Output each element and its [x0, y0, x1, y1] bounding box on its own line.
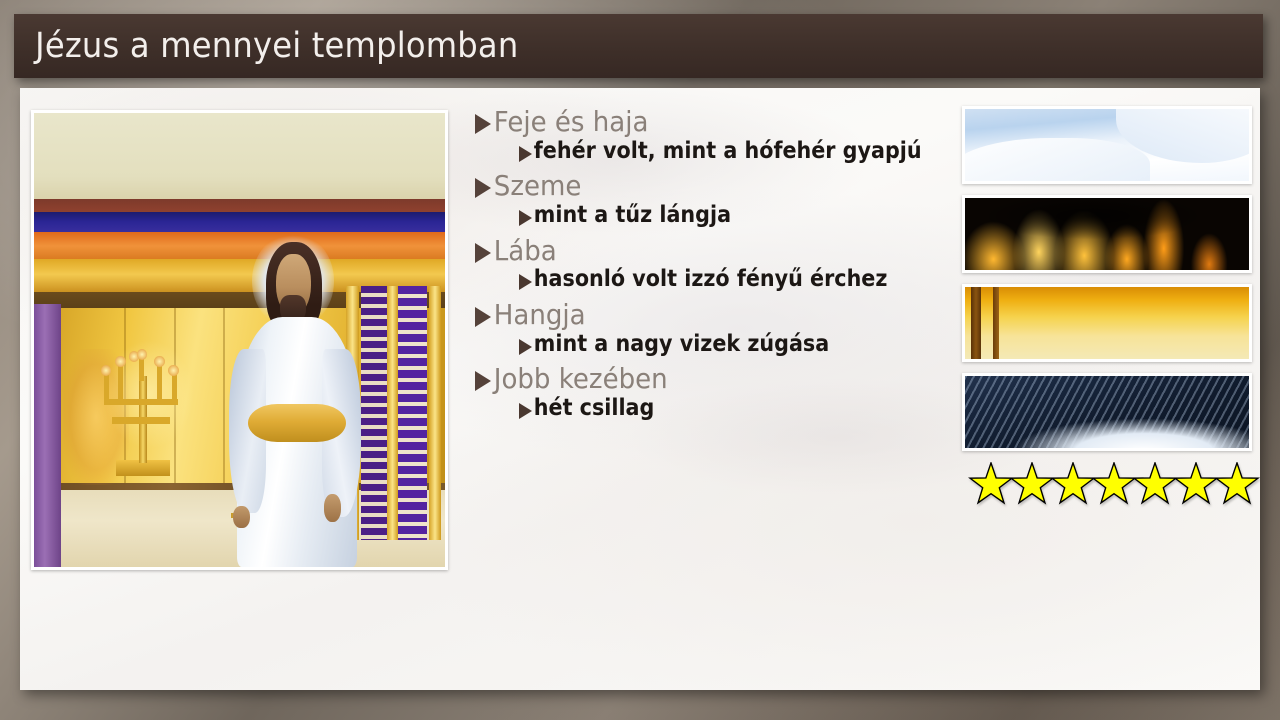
bullet-item-level2: hasonló volt izzó fényű érchez	[519, 265, 955, 294]
slide-content-panel: Feje és haja fehér volt, mint a hófehér …	[20, 88, 1260, 690]
page-title: Jézus a mennyei templomban	[14, 26, 518, 66]
wall-seam	[223, 308, 225, 490]
glowing-bronze-strip-image	[962, 284, 1252, 362]
menorah-arm	[104, 399, 178, 405]
menorah-branch	[139, 358, 144, 381]
menorah-arm	[112, 417, 170, 423]
triangle-bullet-icon	[475, 307, 491, 327]
jesus-hand-right	[324, 494, 341, 521]
menorah-base	[116, 460, 169, 476]
rushing-water-photo	[965, 376, 1249, 448]
jesus-hand-left	[233, 506, 249, 529]
seven-stars-group	[968, 462, 1252, 508]
menorah-flame	[154, 356, 165, 367]
bullet-text: hasonló volt izzó fényű érchez	[532, 265, 887, 294]
bullet-text: Hangja	[491, 297, 586, 333]
triangle-bullet-icon	[475, 114, 491, 134]
bullet-text: Jobb kezében	[491, 361, 668, 397]
temple-blue-band	[34, 212, 445, 233]
bullet-item-level1: Szeme	[475, 168, 955, 204]
menorah-branch	[118, 363, 123, 404]
snow-strip-image	[962, 106, 1252, 184]
bullet-item-level2: mint a tűz lángja	[519, 201, 955, 230]
bullet-item-level1: Feje és haja	[475, 104, 955, 140]
menorah-flame	[101, 365, 112, 376]
triangle-bullet-icon	[475, 243, 491, 263]
gold-pillar	[387, 286, 397, 540]
bullet-item-level1: Jobb kezében	[475, 361, 955, 397]
triangle-bullet-icon	[519, 274, 532, 290]
bullet-text: mint a tűz lángja	[532, 201, 731, 230]
bullet-item-level1: Hangja	[475, 297, 955, 333]
glowing-bronze-photo	[965, 287, 1249, 359]
purple-braided-column	[398, 286, 427, 540]
star-icon	[1173, 462, 1219, 508]
temple-illustration-canvas	[34, 113, 445, 567]
menorah-branch	[172, 372, 177, 404]
bullet-text: mint a nagy vizek zúgása	[532, 330, 829, 359]
temple-ceiling	[34, 113, 445, 204]
star-icon	[1050, 462, 1096, 508]
star-icon	[968, 462, 1014, 508]
star-icon	[1132, 462, 1178, 508]
menorah-branch	[104, 372, 109, 404]
jesus-gold-sash	[248, 404, 347, 443]
triangle-bullet-icon	[475, 371, 491, 391]
bullet-text: Feje és haja	[491, 104, 648, 140]
jesus-in-heavenly-temple-picture	[31, 110, 448, 570]
temple-orange-band	[34, 232, 445, 260]
bullet-text: hét csillag	[532, 394, 654, 423]
gold-pillar	[429, 286, 441, 540]
bullet-item-level2: fehér volt, mint a hófehér gyapjú	[519, 137, 955, 166]
slide-root: Jézus a mennyei templomban	[0, 0, 1280, 720]
star-icon	[1214, 462, 1260, 508]
bullet-item-level2: mint a nagy vizek zúgása	[519, 330, 955, 359]
menorah-flame	[168, 365, 179, 376]
slide-title-bar: Jézus a mennyei templomban	[14, 14, 1263, 78]
triangle-bullet-icon	[519, 210, 532, 226]
rushing-water-strip-image	[962, 373, 1252, 451]
purple-braided-column	[361, 286, 388, 540]
purple-curtain-left	[34, 304, 61, 567]
menorah-flame	[115, 356, 126, 367]
bullet-item-level1: Lába	[475, 233, 955, 269]
bullet-list: Feje és haja fehér volt, mint a hófehér …	[475, 102, 955, 423]
fire-photo	[965, 198, 1249, 270]
triangle-bullet-icon	[475, 178, 491, 198]
bullet-item-level2: hét csillag	[519, 394, 955, 423]
snow-photo	[965, 109, 1249, 181]
fire-strip-image	[962, 195, 1252, 273]
star-icon	[1009, 462, 1055, 508]
bullet-text: Szeme	[491, 168, 581, 204]
menorah-branch	[157, 363, 162, 404]
triangle-bullet-icon	[519, 403, 532, 419]
triangle-bullet-icon	[519, 146, 532, 162]
image-strip-column	[962, 106, 1252, 508]
bullet-text: Lába	[491, 233, 557, 269]
star-icon	[1091, 462, 1137, 508]
bullet-text: fehér volt, mint a hófehér gyapjú	[532, 137, 922, 166]
triangle-bullet-icon	[519, 339, 532, 355]
